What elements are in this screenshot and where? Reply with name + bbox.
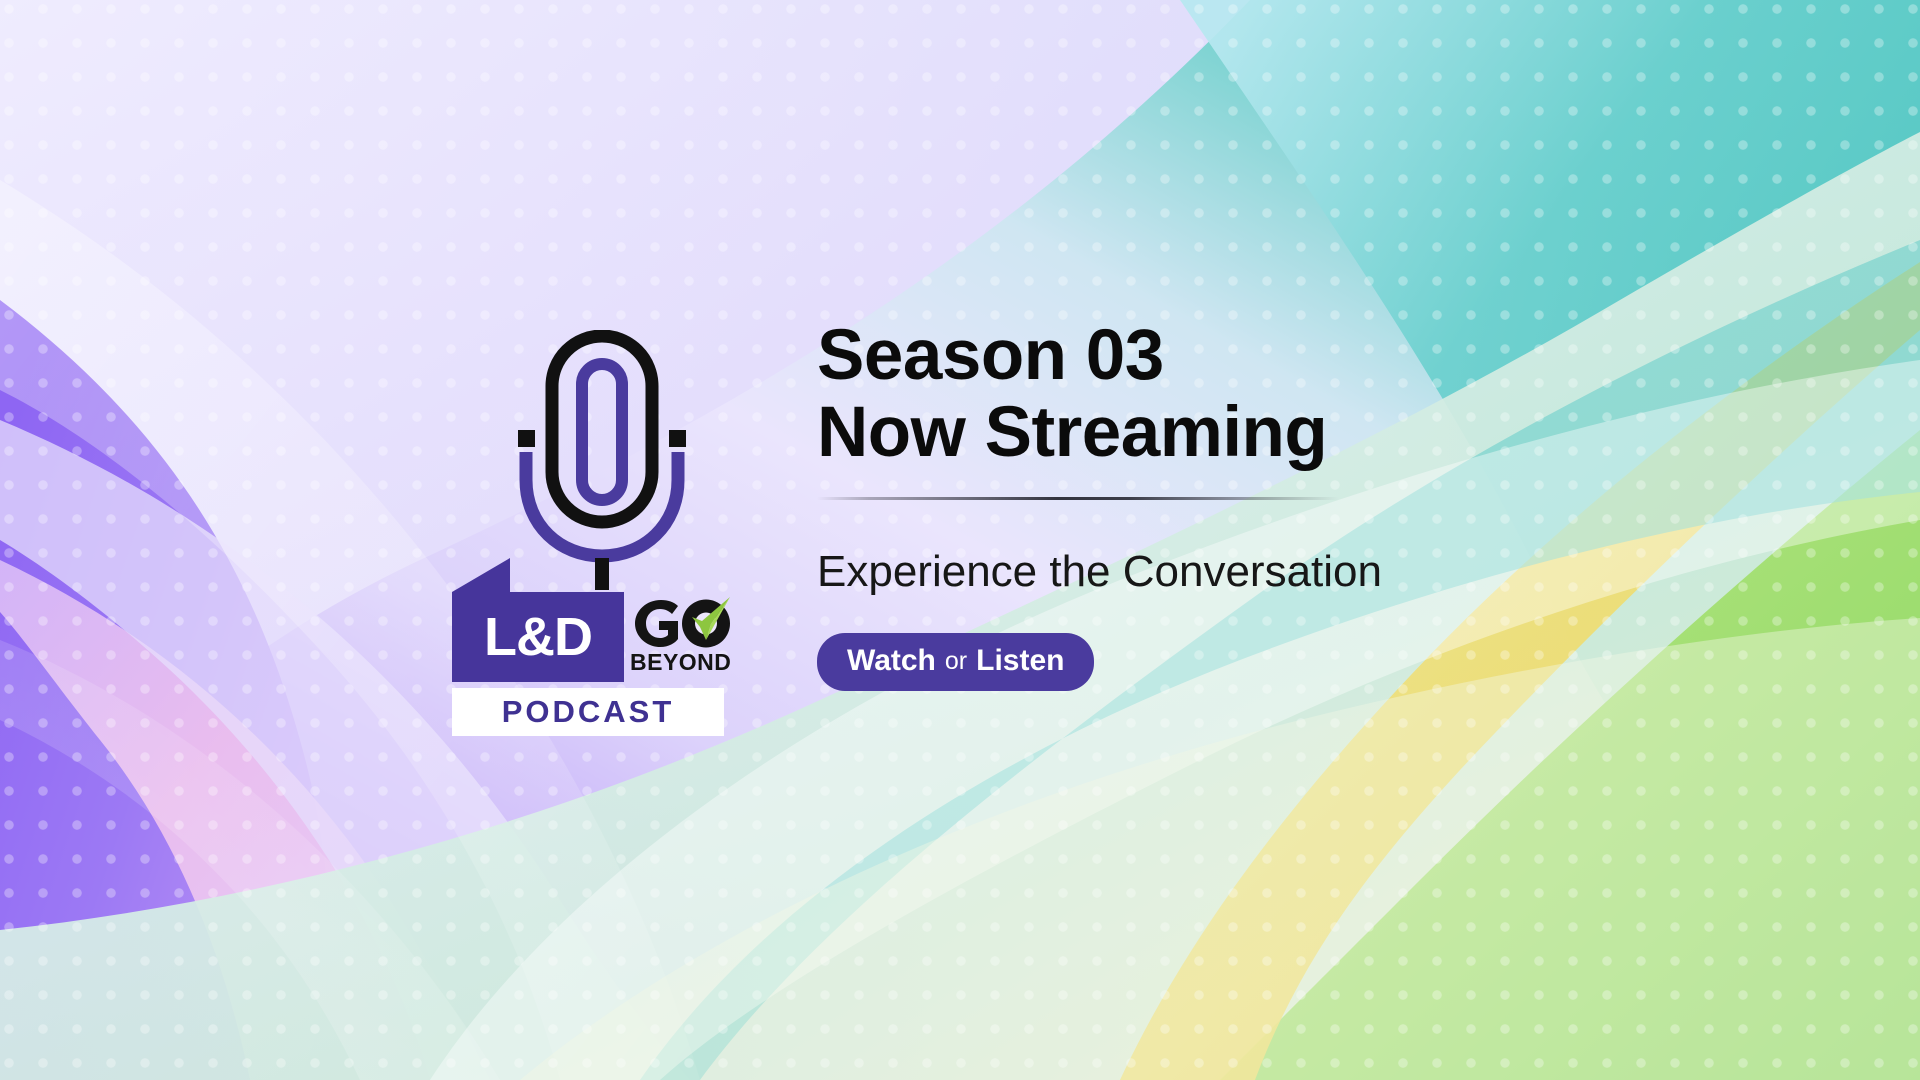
- text-column: Season 03 Now Streaming Experience the C…: [817, 318, 1557, 691]
- cta-word-listen: Listen: [976, 644, 1064, 678]
- go-logo-icon: [630, 594, 734, 650]
- beyond-wordmark: BEYOND: [630, 651, 734, 674]
- microphone-icon: [504, 330, 700, 590]
- brand-badge: L&D: [452, 586, 724, 682]
- divider: [817, 497, 1339, 500]
- cta-word-or: or: [936, 647, 976, 676]
- cta-word-watch: Watch: [847, 644, 936, 678]
- banner-content: L&D: [0, 0, 1920, 1080]
- ld-tile-corner-flag: [452, 558, 510, 592]
- go-wordmark: [630, 594, 734, 650]
- podcast-label: PODCAST: [502, 694, 675, 730]
- ld-tile-label: L&D: [452, 592, 624, 682]
- podcast-logo: L&D: [452, 330, 752, 722]
- podcast-label-bar: PODCAST: [452, 688, 724, 736]
- subheadline: Experience the Conversation: [817, 548, 1557, 596]
- headline: Season 03 Now Streaming: [817, 318, 1557, 471]
- watch-or-listen-button[interactable]: Watch or Listen: [817, 633, 1094, 691]
- podcast-promo-banner: L&D: [0, 0, 1920, 1080]
- go-beyond-lockup: BEYOND: [630, 594, 734, 674]
